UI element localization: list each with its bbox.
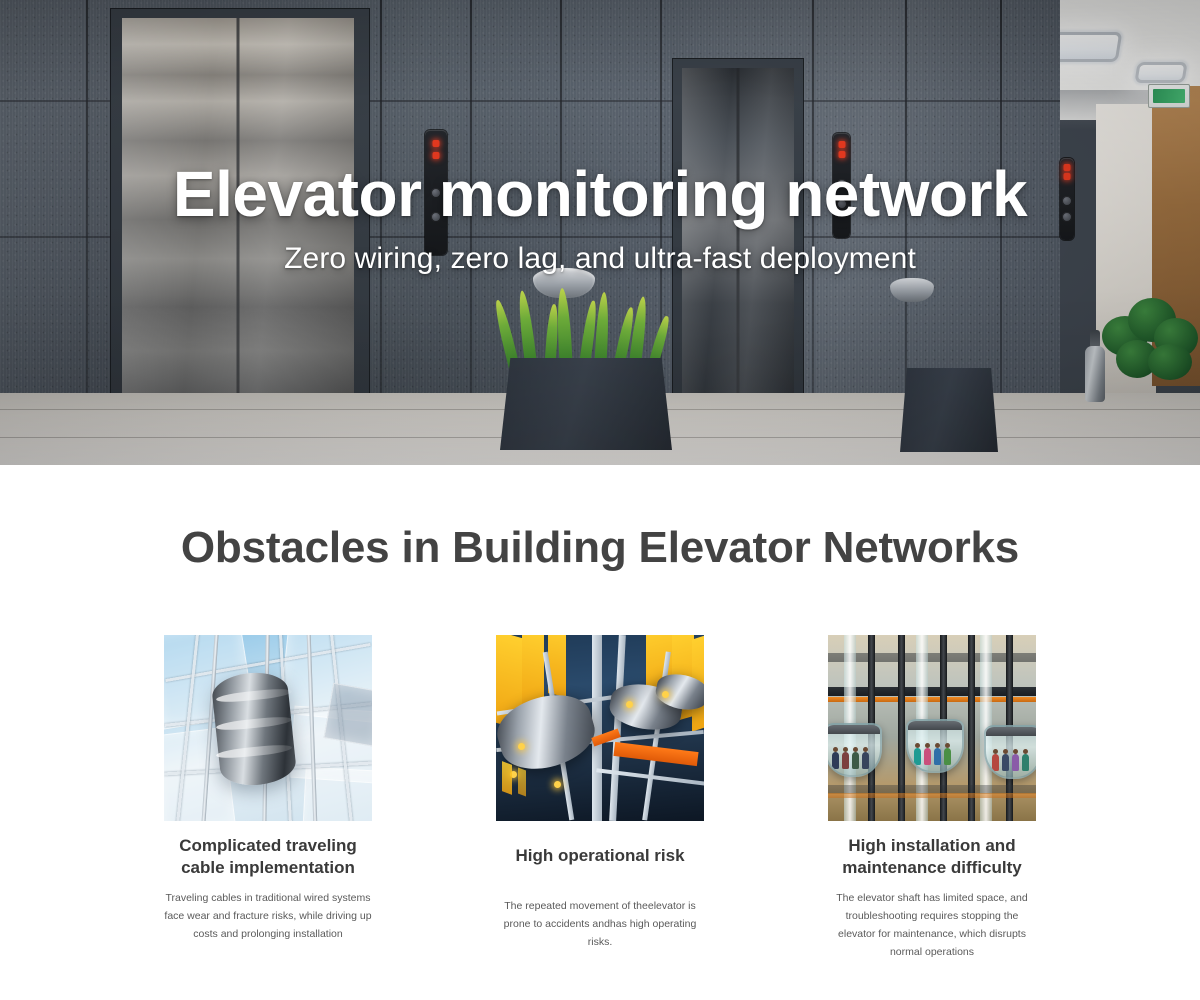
obstacle-card-list: Complicated traveling cable implementati… bbox=[0, 635, 1200, 961]
hero-subtitle: Zero wiring, zero lag, and ultra-fast de… bbox=[284, 241, 916, 277]
section-title: Obstacles in Building Elevator Networks bbox=[0, 523, 1200, 573]
card-title: Complicated traveling cable implementati… bbox=[160, 835, 376, 879]
card-body: The repeated movement of theelevator is … bbox=[494, 897, 706, 951]
obstacle-card[interactable]: Complicated traveling cable implementati… bbox=[164, 635, 372, 943]
obstacles-section: Obstacles in Building Elevator Networks bbox=[0, 465, 1200, 961]
hero-banner: Elevator monitoring network Zero wiring,… bbox=[0, 0, 1200, 465]
card-body: The elevator shaft has limited space, an… bbox=[826, 889, 1038, 961]
card-image-glass-elevator-shaft bbox=[164, 635, 372, 821]
obstacle-card[interactable]: High operational risk The repeated movem… bbox=[496, 635, 704, 951]
hero-text-block: Elevator monitoring network Zero wiring,… bbox=[0, 0, 1200, 465]
card-body: Traveling cables in traditional wired sy… bbox=[162, 889, 374, 943]
card-image-panoramic-elevators bbox=[828, 635, 1036, 821]
card-title: High installation and maintenance diffic… bbox=[824, 835, 1040, 879]
card-image-elevator-hoistway bbox=[496, 635, 704, 821]
card-title: High operational risk bbox=[492, 845, 708, 867]
hero-title: Elevator monitoring network bbox=[173, 162, 1027, 227]
obstacle-card[interactable]: High installation and maintenance diffic… bbox=[828, 635, 1036, 961]
